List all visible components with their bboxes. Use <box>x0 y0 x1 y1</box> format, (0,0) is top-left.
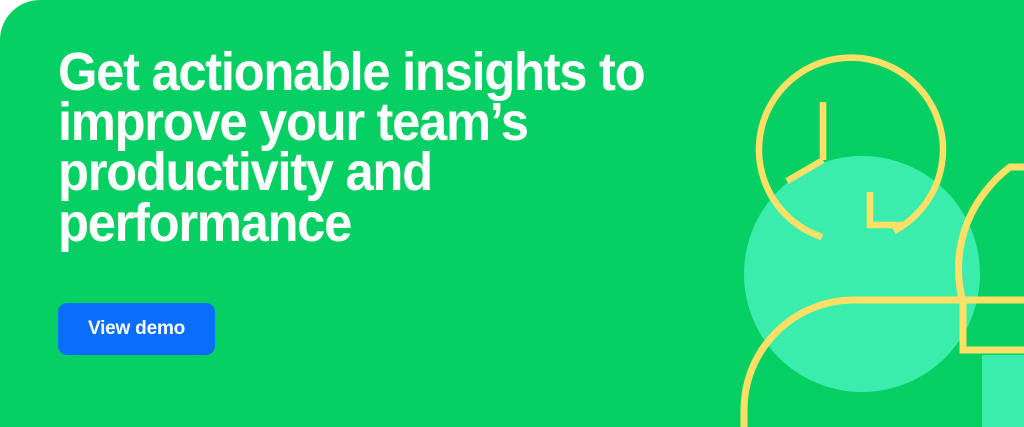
promo-banner: Get actionable insights to improve your … <box>0 0 1024 427</box>
headline: Get actionable insights to improve your … <box>58 47 697 248</box>
view-demo-button[interactable]: View demo <box>58 303 215 355</box>
banner-content: Get actionable insights to improve your … <box>0 0 1024 427</box>
